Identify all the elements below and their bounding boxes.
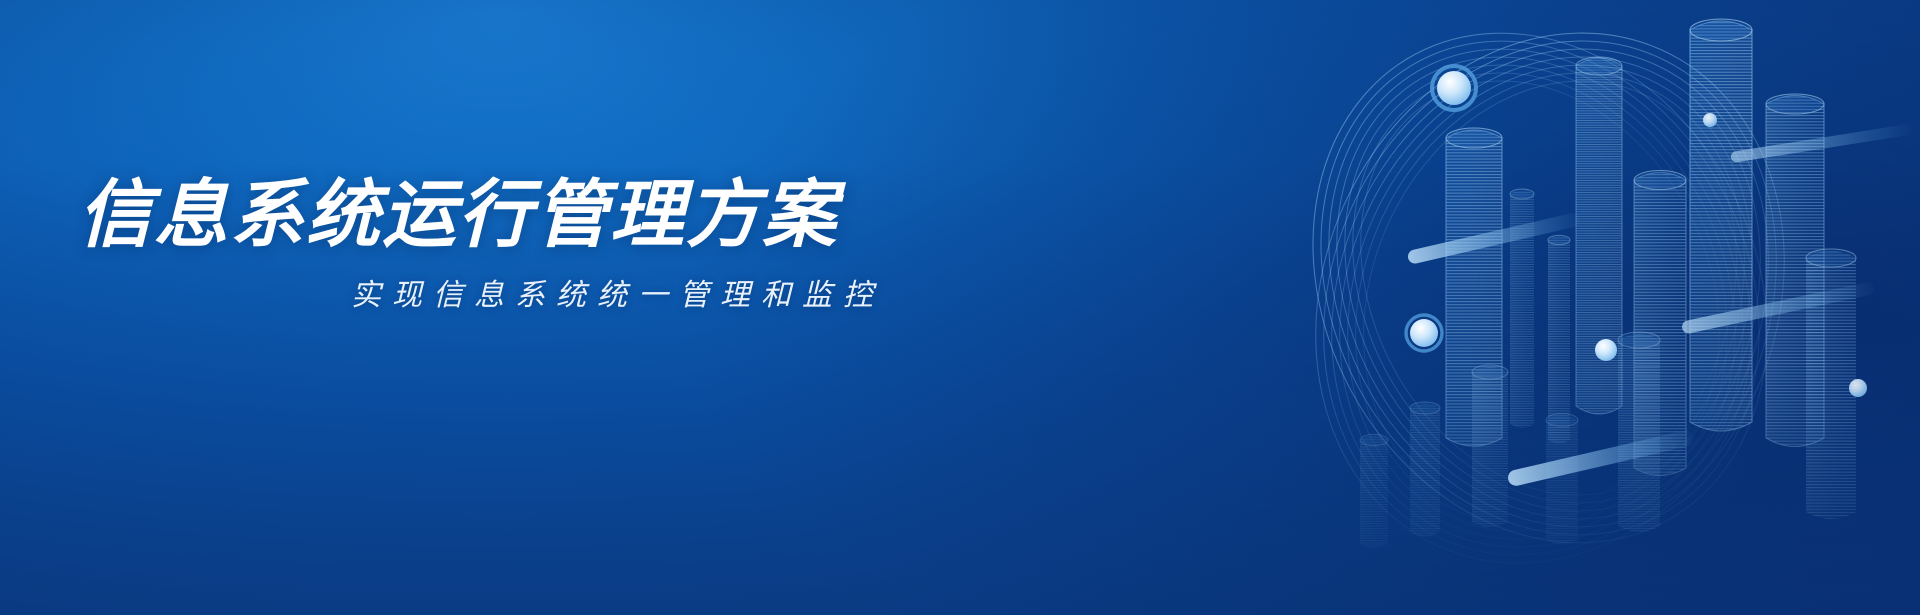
page-subtitle: 实现信息系统统一管理和监控 <box>78 270 908 314</box>
banner-text-block: 信息系统运行管理方案 实现信息系统统一管理和监控 <box>78 176 908 314</box>
page-title: 信息系统运行管理方案 <box>78 176 908 254</box>
hero-banner: 信息系统运行管理方案 实现信息系统统一管理和监控 <box>0 0 1920 615</box>
